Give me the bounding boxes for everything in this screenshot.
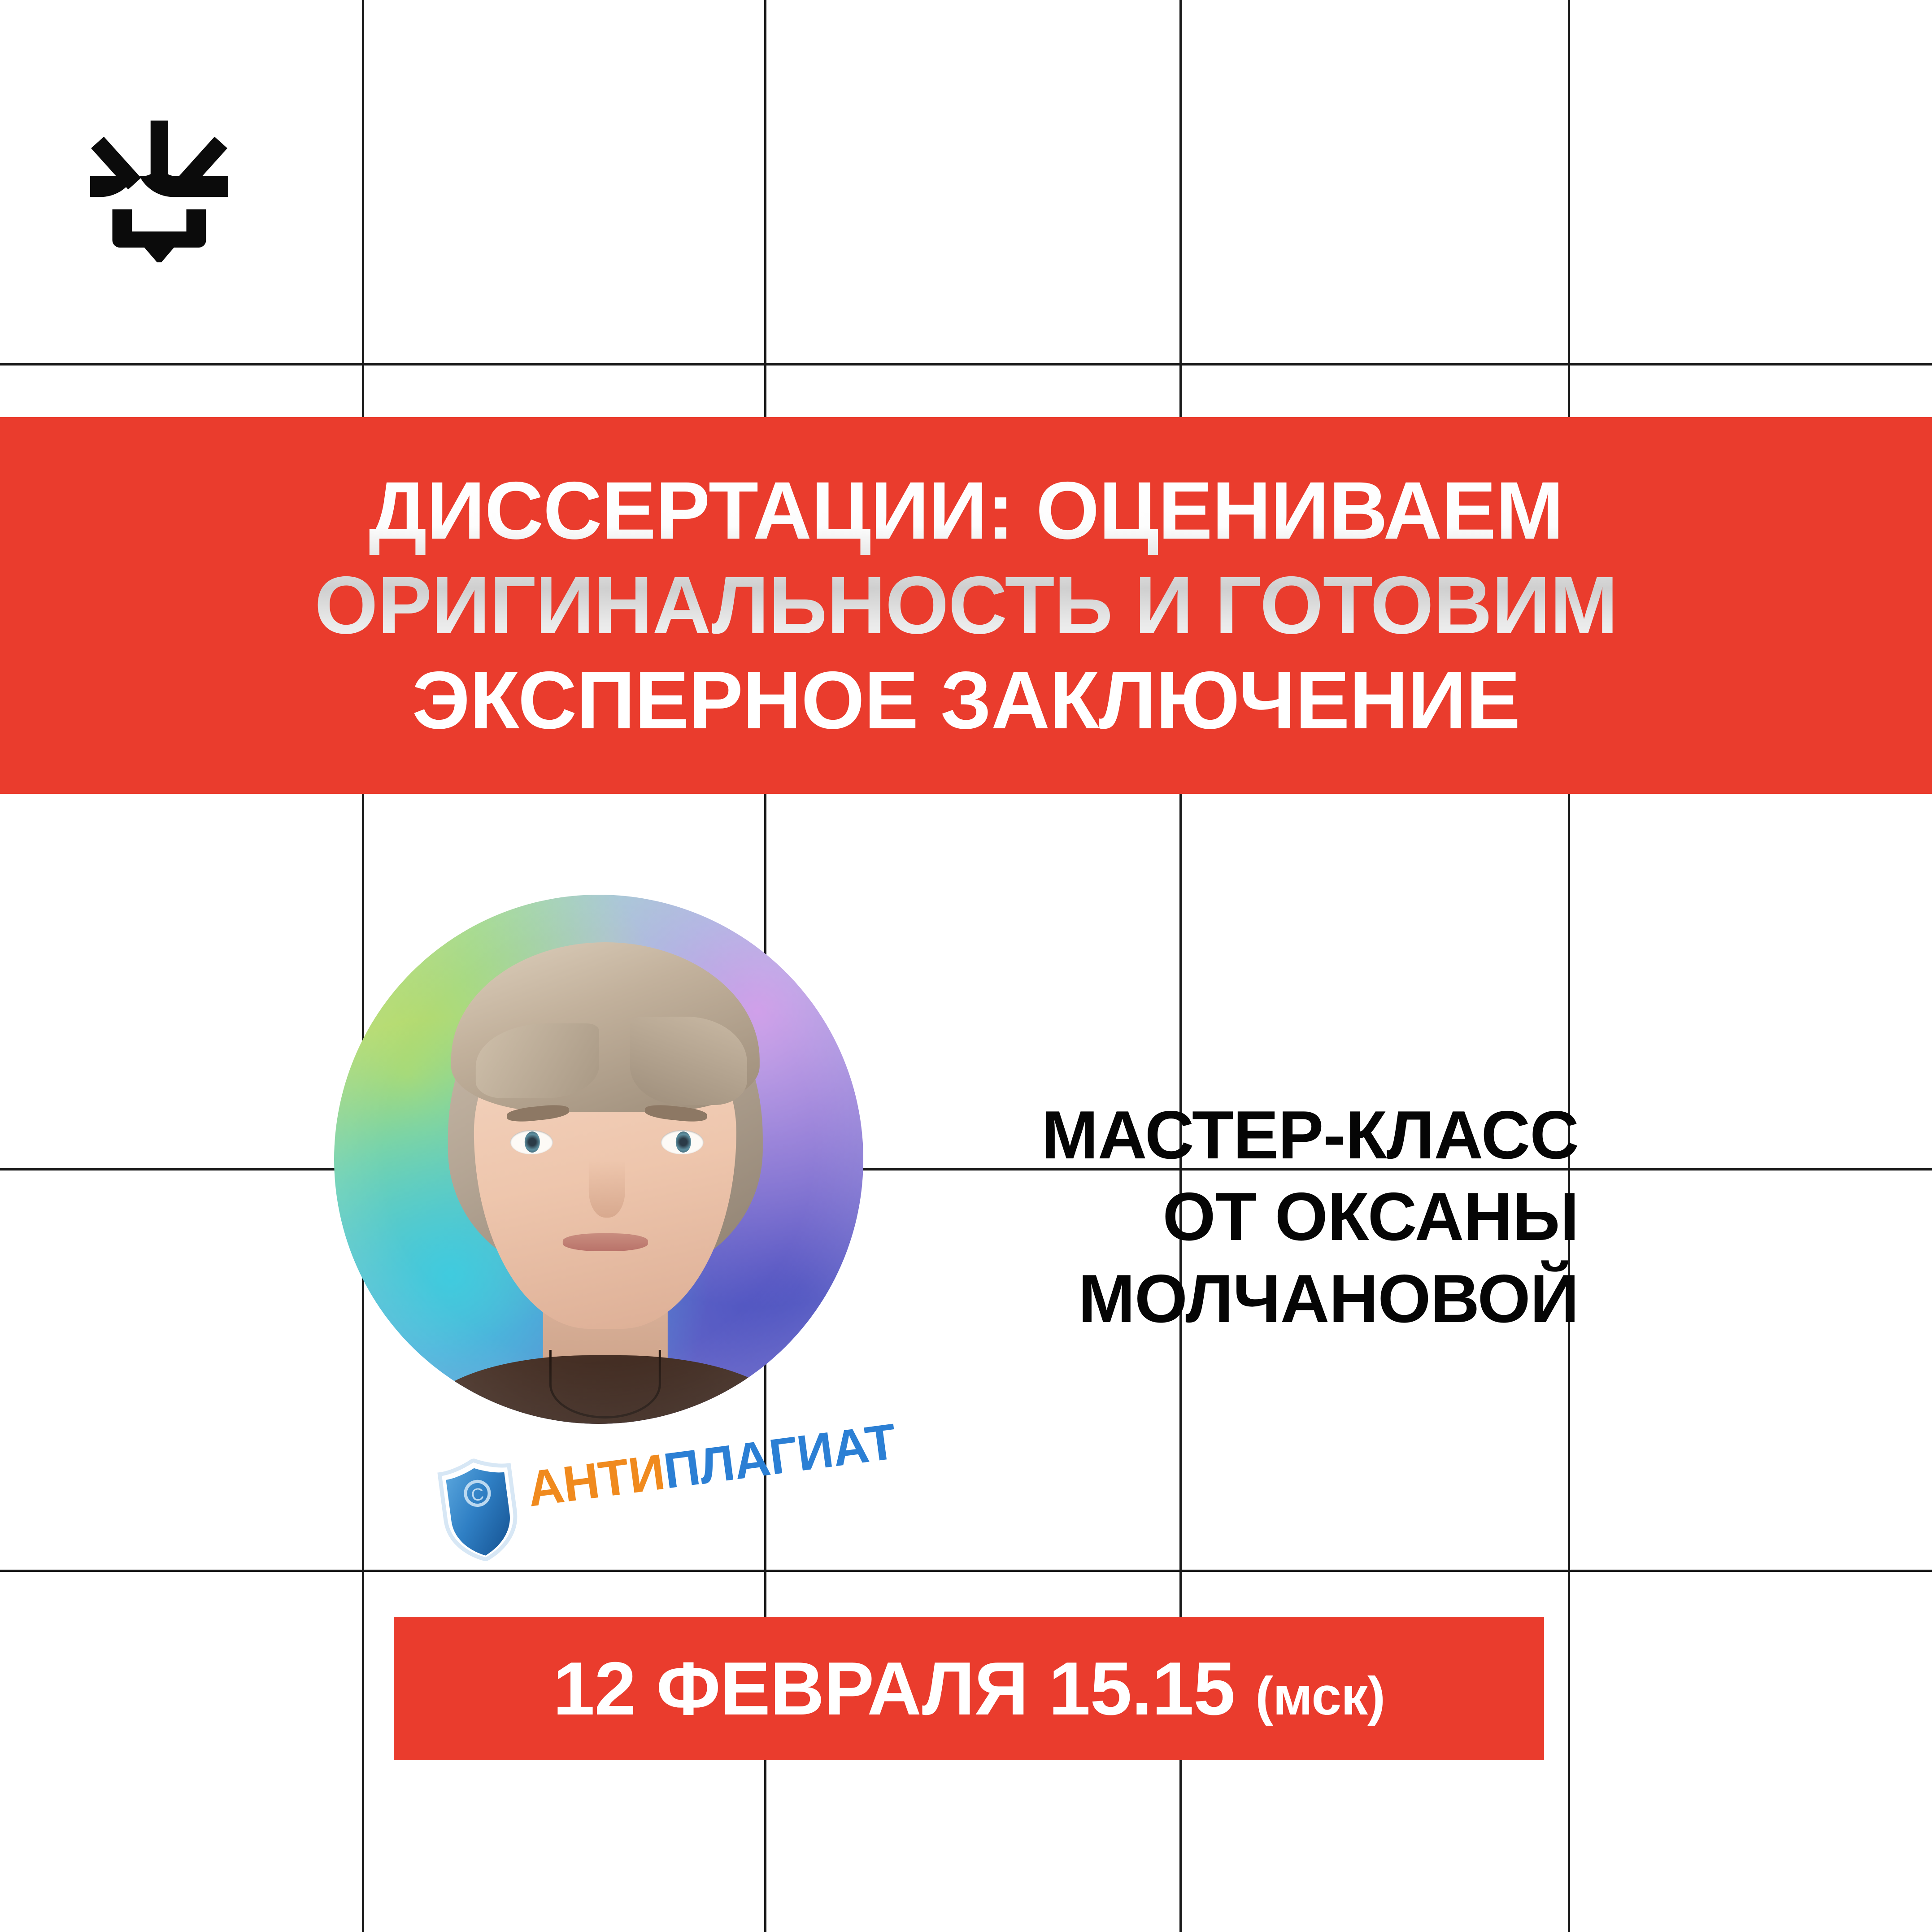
title-line-1: ДИССЕРТАЦИИ: ОЦЕНИВАЕМ xyxy=(271,463,1661,558)
wordmark-part-anti: АНТИ xyxy=(524,1444,668,1517)
speaker-line-1: МАСТЕР-КЛАСС xyxy=(942,1094,1579,1176)
grid-horizontal-line xyxy=(0,363,1932,366)
event-timezone: (мск) xyxy=(1255,1666,1385,1726)
speaker-line-2: ОТ ОКСАНЫ xyxy=(942,1176,1579,1258)
speaker-portrait xyxy=(334,895,863,1424)
eyebrow-right xyxy=(644,1103,707,1123)
hair-back xyxy=(448,948,762,1276)
title-line-2: ОРИГИНАЛЬНОСТЬ И ГОТОВИМ xyxy=(271,558,1661,653)
grid-horizontal-line xyxy=(0,1570,1932,1572)
event-datetime: 12 ФЕВРАЛЯ 15.15 (мск) xyxy=(553,1651,1385,1726)
title-banner: ДИССЕРТАЦИИ: ОЦЕНИВАЕМ ОРИГИНАЛЬНОСТЬ И … xyxy=(0,417,1932,794)
necklace xyxy=(549,1350,661,1419)
speaker-line-3: МОЛЧАНОВОЙ xyxy=(942,1258,1579,1340)
avatar xyxy=(334,895,863,1424)
antiplagiat-wordmark-text: АНТИПЛАГИАТ xyxy=(524,1416,899,1514)
wordmark-part-plagiat: ПЛАГИАТ xyxy=(661,1413,900,1499)
hair-front xyxy=(451,942,760,1112)
page-title: ДИССЕРТАЦИИ: ОЦЕНИВАЕМ ОРИГИНАЛЬНОСТЬ И … xyxy=(271,463,1661,747)
mouth xyxy=(563,1233,648,1251)
shield-copyright-icon: C xyxy=(432,1453,527,1566)
title-line-3: ЭКСПЕРНОЕ ЗАКЛЮЧЕНИЕ xyxy=(271,653,1661,748)
eyebrow-left xyxy=(506,1103,570,1123)
grid-vertical-line xyxy=(1568,0,1570,1932)
speaker-heading: МАСТЕР-КЛАСС ОТ ОКСАНЫ МОЛЧАНОВОЙ xyxy=(942,1094,1579,1340)
eye-right xyxy=(661,1130,704,1154)
antiplagiat-burst-logo-icon xyxy=(85,114,233,262)
eye-left xyxy=(510,1130,553,1154)
face-shape xyxy=(474,1001,736,1329)
neck xyxy=(543,1249,668,1366)
nose xyxy=(589,1159,625,1218)
shoulders xyxy=(422,1355,789,1424)
date-banner: 12 ФЕВРАЛЯ 15.15 (мск) xyxy=(394,1617,1544,1760)
svg-text:C: C xyxy=(470,1484,485,1505)
antiplagiat-wordmark-logo: C АНТИПЛАГИАТ xyxy=(431,1407,847,1580)
event-date: 12 ФЕВРАЛЯ 15.15 xyxy=(553,1646,1255,1731)
portrait-face-illustration xyxy=(441,932,770,1424)
